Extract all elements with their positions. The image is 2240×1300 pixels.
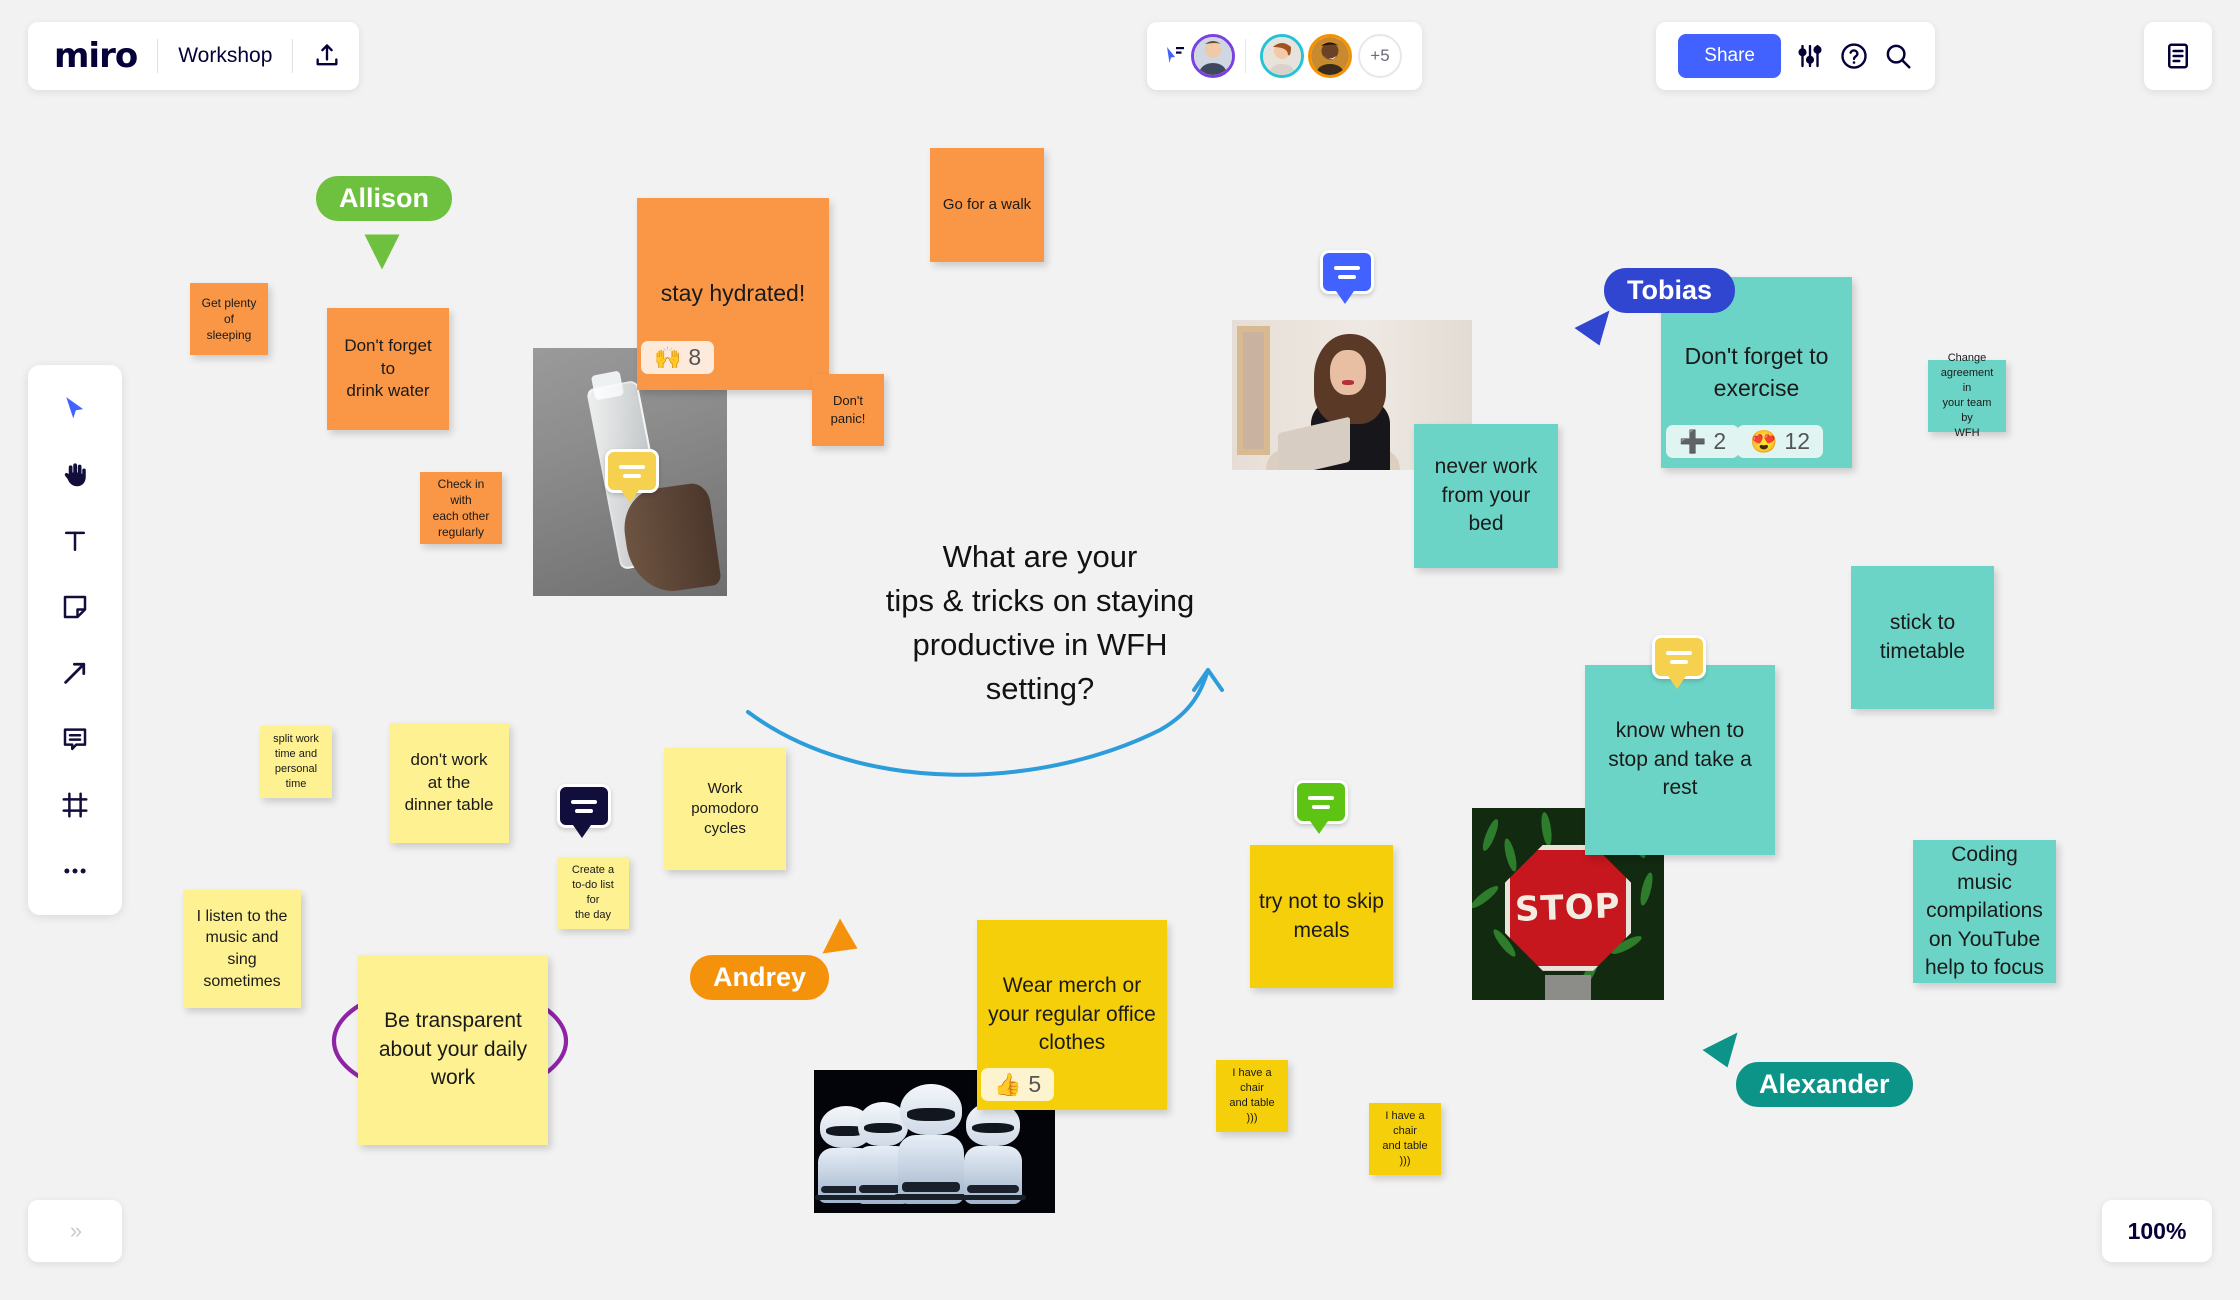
leaf [1540,812,1554,847]
sticky-note-split-work-time[interactable]: split work time and personal time [260,726,332,798]
sticky-note-check-in-each-other[interactable]: Check in with each other regularly [420,472,502,544]
reaction-count: 5 [1028,1073,1041,1096]
sidebar-item-sticky-note[interactable] [47,581,103,633]
sign-post [1545,975,1591,1000]
sticky-note-never-work-bed[interactable]: never work from your bed [1414,424,1558,568]
cursor-arrow-allison [362,232,402,272]
comment-rest-icon[interactable] [1652,635,1706,679]
blaster [960,1195,1025,1200]
collaborator-name-tag-alexander: Alexander [1736,1062,1913,1107]
leaf [1480,818,1501,853]
avatar-overflow-count[interactable]: +5 [1358,34,1402,78]
blaster [894,1194,969,1200]
face [1330,350,1366,395]
board-header: miro Workshop [28,22,359,90]
reaction-exercise-heart-eyes[interactable]: 😍12 [1737,425,1823,458]
cursor-arrow-tobias [1572,308,1612,348]
trooper [966,1102,1020,1202]
question-circle-icon[interactable] [1839,41,1869,71]
leaf [1472,883,1501,911]
cursor-arrow-andrey [820,916,860,956]
follow-cursor-icon[interactable] [1163,44,1187,68]
cursor-arrow-alexander [1700,1030,1740,1070]
divider [157,39,158,73]
avatar[interactable] [1308,34,1352,78]
sidebar-item-hand[interactable] [47,449,103,501]
search-icon[interactable] [1883,41,1913,71]
torso [898,1135,965,1203]
torso [964,1146,1022,1204]
expand-panel-button[interactable]: » [28,1200,122,1262]
reaction-emoji: 🙌 [654,347,681,369]
sticky-note-work-pomodoro[interactable]: Work pomodoro cycles [664,748,786,870]
sticky-note-go-for-a-walk[interactable]: Go for a walk [930,148,1044,262]
reaction-count: 8 [688,346,701,369]
sticky-note-get-plenty-sleeping[interactable]: Get plenty of sleeping [190,283,268,355]
collaborators-bar: +5 [1147,22,1422,90]
avatar[interactable] [1260,34,1304,78]
miro-logo[interactable]: miro [54,36,137,76]
sticky-note-coding-music[interactable]: Coding music compilations on YouTube hel… [1913,840,2056,983]
sidebar-item-text[interactable] [47,515,103,567]
sliders-icon[interactable] [1795,41,1825,71]
reaction-emoji: 👍 [994,1074,1021,1096]
chevron-double-right-icon: » [70,1218,80,1244]
lips [1342,380,1354,385]
sidebar-item-arrow[interactable] [47,647,103,699]
leaf [1502,837,1519,872]
picture-frame [1237,326,1271,455]
zoom-level-badge[interactable]: 100% [2102,1200,2212,1262]
collaborator-name-tag-allison: Allison [316,176,452,221]
sidebar-item-frame[interactable] [47,779,103,831]
reaction-wear-merch-thumbs-up[interactable]: 👍5 [981,1068,1054,1101]
notes-panel-button[interactable] [2144,22,2212,90]
sidebar-item-select[interactable] [47,383,103,435]
board-title[interactable]: Workshop [178,44,272,68]
miro-canvas[interactable]: miro Workshop [0,0,2240,1300]
stop-sign: STOP [1505,845,1631,971]
sticky-note-chair-and-table-2[interactable]: I have a chair and table ))) [1369,1103,1441,1175]
notes-panel-icon[interactable] [2163,41,2193,71]
actions-bar: Share [1656,22,1935,90]
belt [902,1182,961,1192]
sticky-note-dont-work-dinner[interactable]: don't work at the dinner table [389,723,509,843]
sticky-note-create-todo-list[interactable]: Create a to-do list for the day [557,857,629,929]
sticky-note-dont-forget-water[interactable]: Don't forget to drink water [327,308,449,430]
divider [1245,39,1246,73]
comment-bottle-icon[interactable] [605,449,659,493]
sticky-note-know-when-to-stop[interactable]: know when to stop and take a rest [1585,665,1775,855]
reaction-count: 12 [1784,430,1810,453]
sticky-note-try-not-skip-meals[interactable]: try not to skip meals [1250,845,1393,988]
divider [292,39,293,73]
sticky-note-stick-to-timetable[interactable]: stick to timetable [1851,566,1994,709]
comment-woman-icon[interactable] [1320,250,1374,294]
avatar[interactable] [1191,34,1235,78]
comment-pomodoro-icon[interactable] [557,784,611,828]
reaction-exercise-plus[interactable]: ➕2 [1666,425,1739,458]
sidebar-item-more[interactable] [47,845,103,897]
page-title: What are your tips & tricks on staying p… [830,535,1250,711]
sticky-note-chair-and-table-1[interactable]: I have a chair and table ))) [1216,1060,1288,1132]
sidebar-item-comment[interactable] [47,713,103,765]
collaborator-name-tag-tobias: Tobias [1604,268,1735,313]
helmet [900,1084,962,1136]
reaction-stay-hydrated-raised-hands[interactable]: 🙌8 [641,341,714,374]
collaborator-name-tag-andrey: Andrey [690,955,829,1000]
reaction-emoji: 😍 [1750,431,1777,453]
sticky-note-change-agreement[interactable]: Change agreement in your team by WFH [1928,360,2006,432]
belt [967,1185,1018,1193]
sticky-note-dont-panic[interactable]: Don't panic! [812,374,884,446]
reaction-emoji: ➕ [1679,431,1706,453]
visor [907,1108,954,1120]
comment-meals-icon[interactable] [1294,780,1348,824]
trooper [900,1084,962,1202]
visor [972,1123,1013,1134]
visor [864,1123,902,1134]
upload-icon[interactable] [313,42,341,70]
sticky-note-i-listen-music[interactable]: I listen to the music and sing sometimes [183,890,301,1008]
reaction-count: 2 [1713,430,1726,453]
share-button[interactable]: Share [1678,34,1781,78]
leaf [1638,871,1655,906]
sticky-note-be-transparent[interactable]: Be transparent about your daily work [358,955,548,1145]
tools-sidebar [28,365,122,915]
